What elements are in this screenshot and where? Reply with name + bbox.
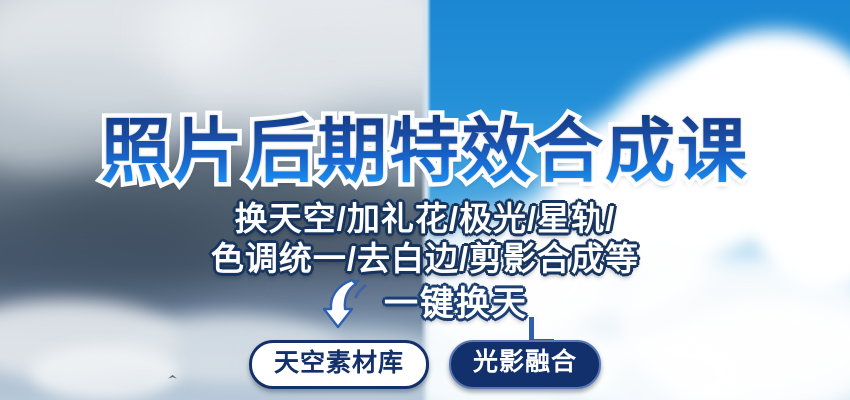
one-key-group: 一键换天 bbox=[322, 278, 528, 330]
subtitle-line-2: 色调统一/去白边/剪影合成等 bbox=[0, 240, 850, 278]
sky-replacement-promo-banner: 照片后期特效合成课 照片后期特效合成课 换天空/加礼花/极光/星轨/ 色调统一/… bbox=[0, 0, 850, 400]
one-key-label: 一键换天 bbox=[384, 284, 528, 324]
feature-pill-row: 天空素材库 光影融合 bbox=[0, 340, 850, 389]
banner-text-overlay: 照片后期特效合成课 照片后期特效合成课 换天空/加礼花/极光/星轨/ 色调统一/… bbox=[0, 0, 850, 400]
one-key-row: 一键换天 bbox=[0, 278, 850, 334]
pill-sky-asset-library[interactable]: 天空素材库 bbox=[249, 340, 429, 389]
curved-down-arrow-icon bbox=[322, 278, 378, 330]
pill-light-shadow-blend[interactable]: 光影融合 bbox=[449, 340, 601, 389]
subtitle-line-1: 换天空/加礼花/极光/星轨/ bbox=[0, 200, 850, 238]
main-title: 照片后期特效合成课 bbox=[0, 112, 850, 190]
